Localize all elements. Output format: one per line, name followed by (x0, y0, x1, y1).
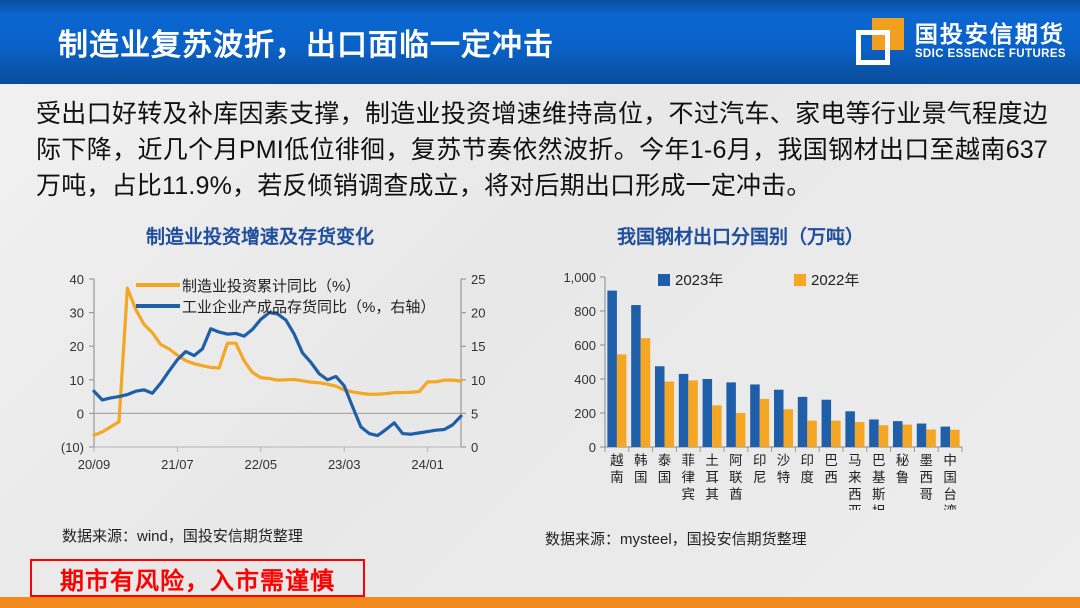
svg-text:600: 600 (574, 338, 596, 353)
left-chart-source: 数据来源：wind，国投安信期货整理 (62, 525, 303, 546)
svg-text:西: 西 (824, 470, 838, 485)
svg-text:斯: 斯 (872, 487, 886, 502)
svg-text:耳: 耳 (705, 470, 719, 485)
svg-text:20: 20 (471, 306, 485, 321)
svg-text:联: 联 (729, 470, 743, 485)
right-chart-title: 我国钢材出口分国别（万吨） (617, 222, 864, 249)
right-bar-chart: 1,0008006004002000越南韩国泰国菲律宾土耳其阿联酋印尼沙特印度巴… (530, 255, 1000, 510)
svg-text:韩: 韩 (634, 453, 648, 468)
svg-text:0: 0 (77, 406, 84, 421)
right-chart-panel: 1,0008006004002000越南韩国泰国菲律宾土耳其阿联酋印尼沙特印度巴… (530, 255, 1000, 510)
body-paragraph: 受出口好转及补库因素支撑，制造业投资增速维持高位，不过汽车、家电等行业景气程度边… (36, 96, 1048, 204)
left-chart-panel: 403020100(10)252015105020/0921/0722/0523… (30, 255, 500, 510)
svg-text:800: 800 (574, 304, 596, 319)
svg-text:基: 基 (872, 469, 886, 485)
svg-text:5: 5 (471, 406, 478, 421)
svg-text:西: 西 (920, 470, 934, 485)
logo-chinese-name: 国投安信期货 (915, 22, 1066, 46)
svg-text:40: 40 (70, 272, 84, 287)
svg-text:其: 其 (705, 487, 719, 502)
company-logo: 国投安信期货 SDIC ESSENCE FUTURES (856, 12, 1066, 72)
svg-text:400: 400 (574, 372, 596, 387)
svg-text:22/05: 22/05 (245, 457, 278, 472)
svg-text:10: 10 (70, 373, 84, 388)
svg-text:(10): (10) (61, 440, 84, 455)
svg-text:鲁: 鲁 (896, 470, 910, 485)
svg-text:10: 10 (471, 373, 485, 388)
svg-text:越: 越 (610, 453, 624, 468)
svg-text:南: 南 (610, 470, 624, 485)
svg-text:巴: 巴 (824, 453, 838, 468)
logo-text: 国投安信期货 SDIC ESSENCE FUTURES (915, 22, 1066, 62)
svg-text:23/03: 23/03 (328, 457, 361, 472)
svg-text:印: 印 (753, 453, 767, 468)
left-line-chart: 403020100(10)252015105020/0921/0722/0523… (30, 255, 500, 510)
svg-text:印: 印 (801, 453, 815, 468)
logo-english-name: SDIC ESSENCE FUTURES (915, 48, 1066, 62)
svg-text:国: 国 (943, 470, 957, 485)
svg-text:酋: 酋 (729, 486, 743, 502)
svg-text:2022年: 2022年 (811, 272, 859, 289)
svg-text:阿: 阿 (729, 453, 743, 468)
svg-text:2023年: 2023年 (675, 272, 723, 289)
svg-text:25: 25 (471, 272, 485, 287)
footer-bar (0, 597, 1080, 608)
svg-text:沙: 沙 (777, 453, 791, 468)
slide-header: 制造业复苏波折，出口面临一定冲击 国投安信期货 SDIC ESSENCE FUT… (0, 0, 1080, 84)
svg-text:工业企业产成品存货同比（%，右轴）: 工业企业产成品存货同比（%，右轴） (182, 298, 435, 316)
svg-text:1,000: 1,000 (563, 270, 596, 285)
svg-text:0: 0 (589, 440, 596, 455)
svg-text:亚: 亚 (848, 504, 862, 510)
svg-text:湾: 湾 (943, 503, 957, 510)
page-title: 制造业复苏波折，出口面临一定冲击 (58, 20, 554, 64)
svg-text:特: 特 (777, 470, 791, 485)
svg-text:马: 马 (848, 453, 862, 468)
logo-white-square (856, 30, 890, 65)
right-chart-source: 数据来源：mysteel，国投安信期货整理 (545, 528, 807, 549)
svg-text:中: 中 (943, 453, 957, 468)
svg-text:台: 台 (943, 487, 957, 502)
svg-text:200: 200 (574, 406, 596, 421)
risk-warning-text: 期市有风险，入市需谨慎 (60, 561, 335, 596)
risk-warning-box: 期市有风险，入市需谨慎 (30, 559, 365, 597)
svg-text:墨: 墨 (920, 453, 934, 468)
svg-text:哥: 哥 (920, 487, 934, 502)
svg-text:21/07: 21/07 (161, 457, 194, 472)
svg-text:度: 度 (801, 470, 815, 485)
svg-text:土: 土 (705, 453, 719, 468)
svg-text:24/01: 24/01 (411, 457, 444, 472)
svg-text:尼: 尼 (753, 470, 767, 485)
svg-text:15: 15 (471, 339, 485, 354)
svg-text:菲: 菲 (682, 453, 696, 468)
logo-mark-icon (856, 18, 906, 66)
left-chart-title: 制造业投资增速及存货变化 (146, 222, 374, 249)
svg-text:坦: 坦 (872, 504, 886, 510)
svg-text:律: 律 (682, 470, 696, 485)
svg-text:国: 国 (634, 470, 648, 485)
svg-text:国: 国 (658, 470, 672, 485)
svg-text:巴: 巴 (872, 453, 886, 468)
svg-text:宾: 宾 (682, 487, 696, 502)
svg-text:泰: 泰 (658, 453, 672, 468)
svg-text:0: 0 (471, 440, 478, 455)
svg-text:30: 30 (70, 306, 84, 321)
svg-text:西: 西 (848, 487, 862, 502)
svg-text:秘: 秘 (896, 453, 910, 468)
svg-text:制造业投资累计同比（%）: 制造业投资累计同比（%） (182, 278, 360, 295)
svg-text:来: 来 (848, 470, 862, 485)
svg-text:20: 20 (70, 339, 84, 354)
svg-text:20/09: 20/09 (78, 457, 111, 472)
